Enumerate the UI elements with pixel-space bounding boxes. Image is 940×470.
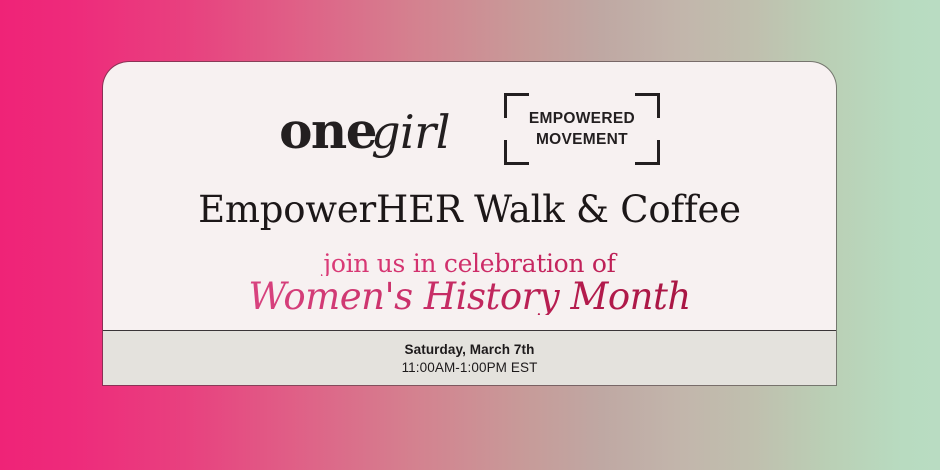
bracket-top-left-icon [504,93,529,118]
empowered-movement-logo: EMPOWERED MOVEMENT [504,93,660,165]
event-title: EmpowerHER Walk & Coffee [198,190,741,231]
event-details-band: Saturday, March 7th 11:00AM-1:00PM EST [103,330,836,385]
event-date: Saturday, March 7th [405,342,535,357]
empowered-movement-line2: MOVEMENT [536,129,628,150]
card-body: one girl EMPOWERED MOVEMENT EmpowerHER W… [103,62,836,330]
event-time: 11:00AM-1:00PM EST [402,360,538,375]
logo-lockup: one girl EMPOWERED MOVEMENT [279,90,660,168]
bracket-bottom-left-icon [504,140,529,165]
empowered-movement-line1: EMPOWERED [529,108,635,129]
celebration-script-title: Women's History Month [248,278,690,315]
celebration-subtitle: join us in celebration of [248,251,690,276]
event-card: one girl EMPOWERED MOVEMENT EmpowerHER W… [103,62,836,385]
onegirl-logo-girl: girl [371,109,450,155]
celebration-block: join us in celebration of Women's Histor… [248,251,690,315]
onegirl-logo-one: one [279,106,376,156]
bracket-top-right-icon [635,93,660,118]
bracket-bottom-right-icon [635,140,660,165]
event-poster: one girl EMPOWERED MOVEMENT EmpowerHER W… [0,0,940,470]
onegirl-logo: one girl [279,106,450,156]
